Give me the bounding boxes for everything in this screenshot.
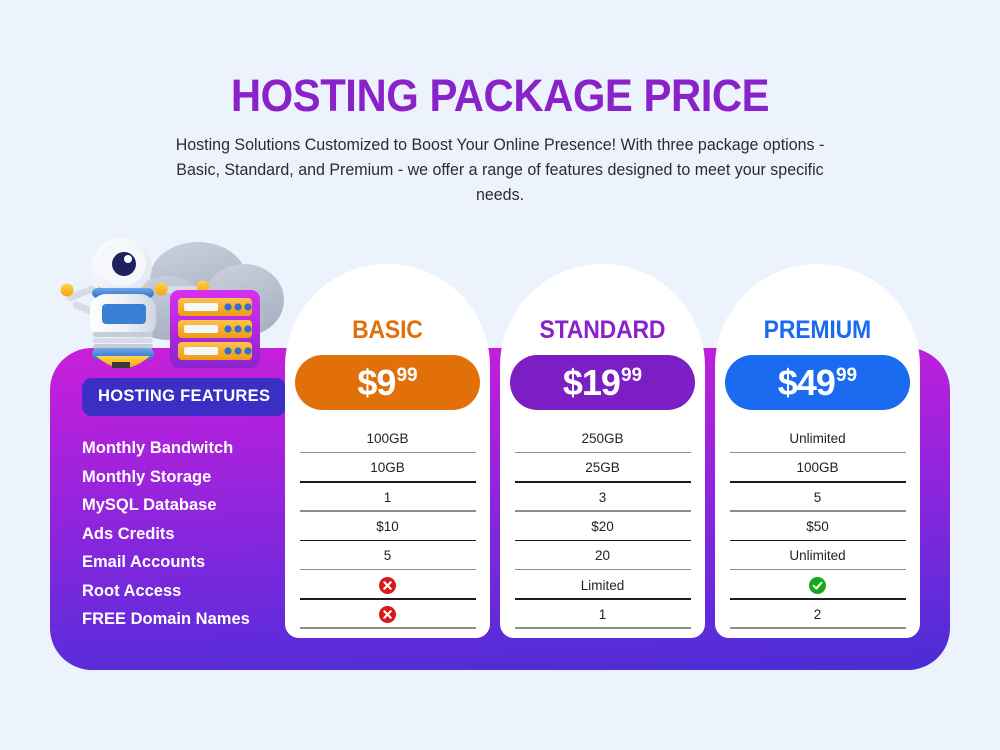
plan-price-amount: $19	[563, 365, 620, 401]
plan-value-cell: $10	[300, 512, 476, 541]
cross-circle-icon	[379, 606, 396, 623]
plan-price-amount: $9	[357, 365, 395, 401]
plan-value-cell: 1	[300, 483, 476, 512]
plan-value-cell: Unlimited	[730, 541, 906, 570]
plan-value-rows: 250GB25GB3$2020Limited1	[515, 424, 691, 629]
plan-price-pill[interactable]: $4999	[725, 355, 910, 410]
plan-value-cell: 10GB	[300, 453, 476, 482]
plan-price-cents: 99	[836, 366, 857, 385]
plan-value-cell: Unlimited	[730, 424, 906, 453]
plan-value-rows: Unlimited100GB5$50Unlimited2	[730, 424, 906, 629]
page-subtitle: Hosting Solutions Customized to Boost Yo…	[170, 133, 830, 208]
plan-cards: BASIC$999100GB10GB1$105STANDARD$1999250G…	[285, 264, 925, 638]
plan-value-rows: 100GB10GB1$105	[300, 424, 476, 629]
plan-value-cell: $20	[515, 512, 691, 541]
plan-price-cents: 99	[621, 366, 642, 385]
plan-value-cell: 5	[730, 483, 906, 512]
server-unit	[178, 320, 252, 338]
robot-server-cloud-illustration	[48, 228, 298, 368]
plan-card-premium[interactable]: PREMIUM$4999Unlimited100GB5$50Unlimited2	[715, 264, 920, 638]
plan-value-cell: 100GB	[730, 453, 906, 482]
plan-card-standard[interactable]: STANDARD$1999250GB25GB3$2020Limited1	[500, 264, 705, 638]
cross-circle-icon	[379, 577, 396, 594]
plan-value-cell	[300, 570, 476, 599]
plan-value-cell: 20	[515, 541, 691, 570]
cloud-shape	[128, 242, 284, 348]
plan-value-cell: 5	[300, 541, 476, 570]
page-title: HOSTING PACKAGE PRICE	[35, 72, 965, 121]
plan-name: PREMIUM	[764, 316, 871, 345]
page-header: HOSTING PACKAGE PRICE Hosting Solutions …	[0, 72, 1000, 208]
plan-value-cell: 100GB	[300, 424, 476, 453]
plan-value-cell	[300, 600, 476, 629]
plan-value-cell: 3	[515, 483, 691, 512]
server-unit	[178, 298, 252, 316]
plan-price-pill[interactable]: $1999	[510, 355, 695, 410]
plan-card-basic[interactable]: BASIC$999100GB10GB1$105	[285, 264, 490, 638]
plan-price-amount: $49	[778, 365, 835, 401]
hosting-features-badge: HOSTING FEATURES	[82, 378, 286, 416]
plan-value-cell: Limited	[515, 570, 691, 599]
plan-value-cell: $50	[730, 512, 906, 541]
robot-head	[92, 238, 152, 298]
plan-value-cell: 25GB	[515, 453, 691, 482]
plan-value-cell: 2	[730, 600, 906, 629]
plan-price-pill[interactable]: $999	[295, 355, 480, 410]
plan-name: BASIC	[352, 316, 423, 345]
robot-arms	[61, 281, 210, 319]
plan-price-cents: 99	[396, 366, 417, 385]
plan-value-cell	[730, 570, 906, 599]
plan-value-cell: 1	[515, 600, 691, 629]
plan-name: STANDARD	[540, 316, 666, 345]
check-circle-icon	[809, 577, 826, 594]
plan-value-cell: 250GB	[515, 424, 691, 453]
